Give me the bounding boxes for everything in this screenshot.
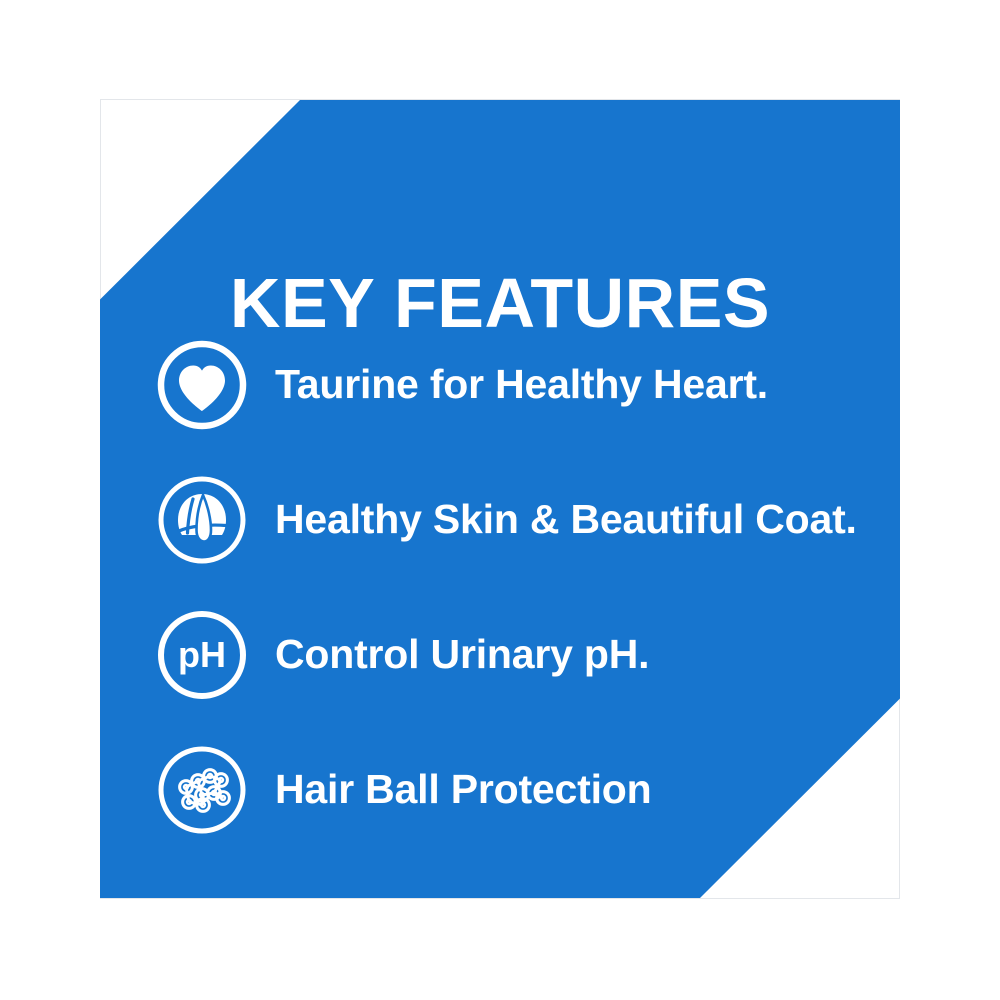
list-item: Healthy Skin & Beautiful Coat. — [157, 452, 897, 587]
list-item-label: Taurine for Healthy Heart. — [275, 363, 768, 406]
key-features-graphic: KEY FEATURES Taurine for Healthy Heart. — [0, 0, 1000, 1000]
skin-hair-follicle-icon — [157, 475, 247, 565]
list-item-label: Healthy Skin & Beautiful Coat. — [275, 498, 857, 541]
list-item-label: Hair Ball Protection — [275, 768, 651, 811]
list-item: pH Control Urinary pH. — [157, 587, 897, 722]
list-item: Taurine for Healthy Heart. — [157, 317, 897, 452]
ph-icon: pH — [157, 610, 247, 700]
feature-list: Taurine for Healthy Heart. — [157, 317, 897, 857]
heart-icon — [157, 340, 247, 430]
blue-panel: KEY FEATURES Taurine for Healthy Heart. — [100, 100, 900, 898]
hairball-cluster-icon — [157, 745, 247, 835]
svg-text:pH: pH — [178, 634, 226, 675]
list-item-label: Control Urinary pH. — [275, 633, 649, 676]
